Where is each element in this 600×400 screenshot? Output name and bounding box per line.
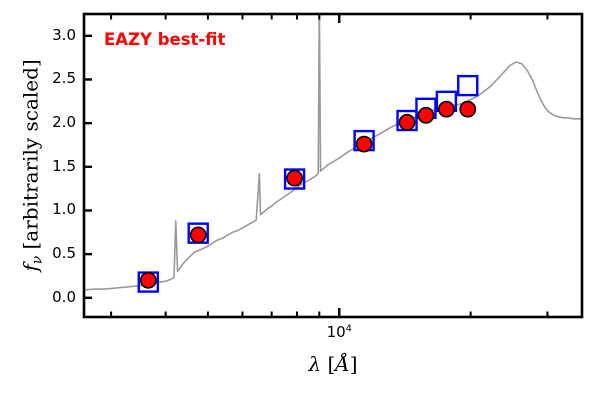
x-tick-exponent: 4 <box>346 324 352 335</box>
observed-photometry-point <box>418 108 433 123</box>
y-tick-label: 2.5 <box>32 69 76 87</box>
observed-photometry-point <box>399 115 414 130</box>
observed-photometry-point <box>287 171 302 186</box>
y-tick-label: 0.0 <box>32 288 76 306</box>
y-tick-label: 1.0 <box>32 200 76 218</box>
figure-canvas: EAZY best-fit fν [arbitrarily scaled] λ … <box>0 0 600 400</box>
observed-photometry-point <box>460 102 475 117</box>
plot-background <box>0 0 600 400</box>
observed-photometry-point <box>191 227 206 242</box>
observed-photometry-point <box>439 102 454 117</box>
observed-photometry-point <box>357 137 372 152</box>
y-tick-label: 1.5 <box>32 157 76 175</box>
y-tick-label: 3.0 <box>32 26 76 44</box>
y-tick-label: 0.5 <box>32 244 76 262</box>
y-tick-label: 2.0 <box>32 113 76 131</box>
x-tick-mantissa: 10 <box>327 323 346 341</box>
x-tick-label: 104 <box>309 323 369 341</box>
sed-plot <box>0 0 600 400</box>
observed-photometry-point <box>141 273 156 288</box>
annotation-eazy-best-fit: EAZY best-fit <box>104 30 225 49</box>
